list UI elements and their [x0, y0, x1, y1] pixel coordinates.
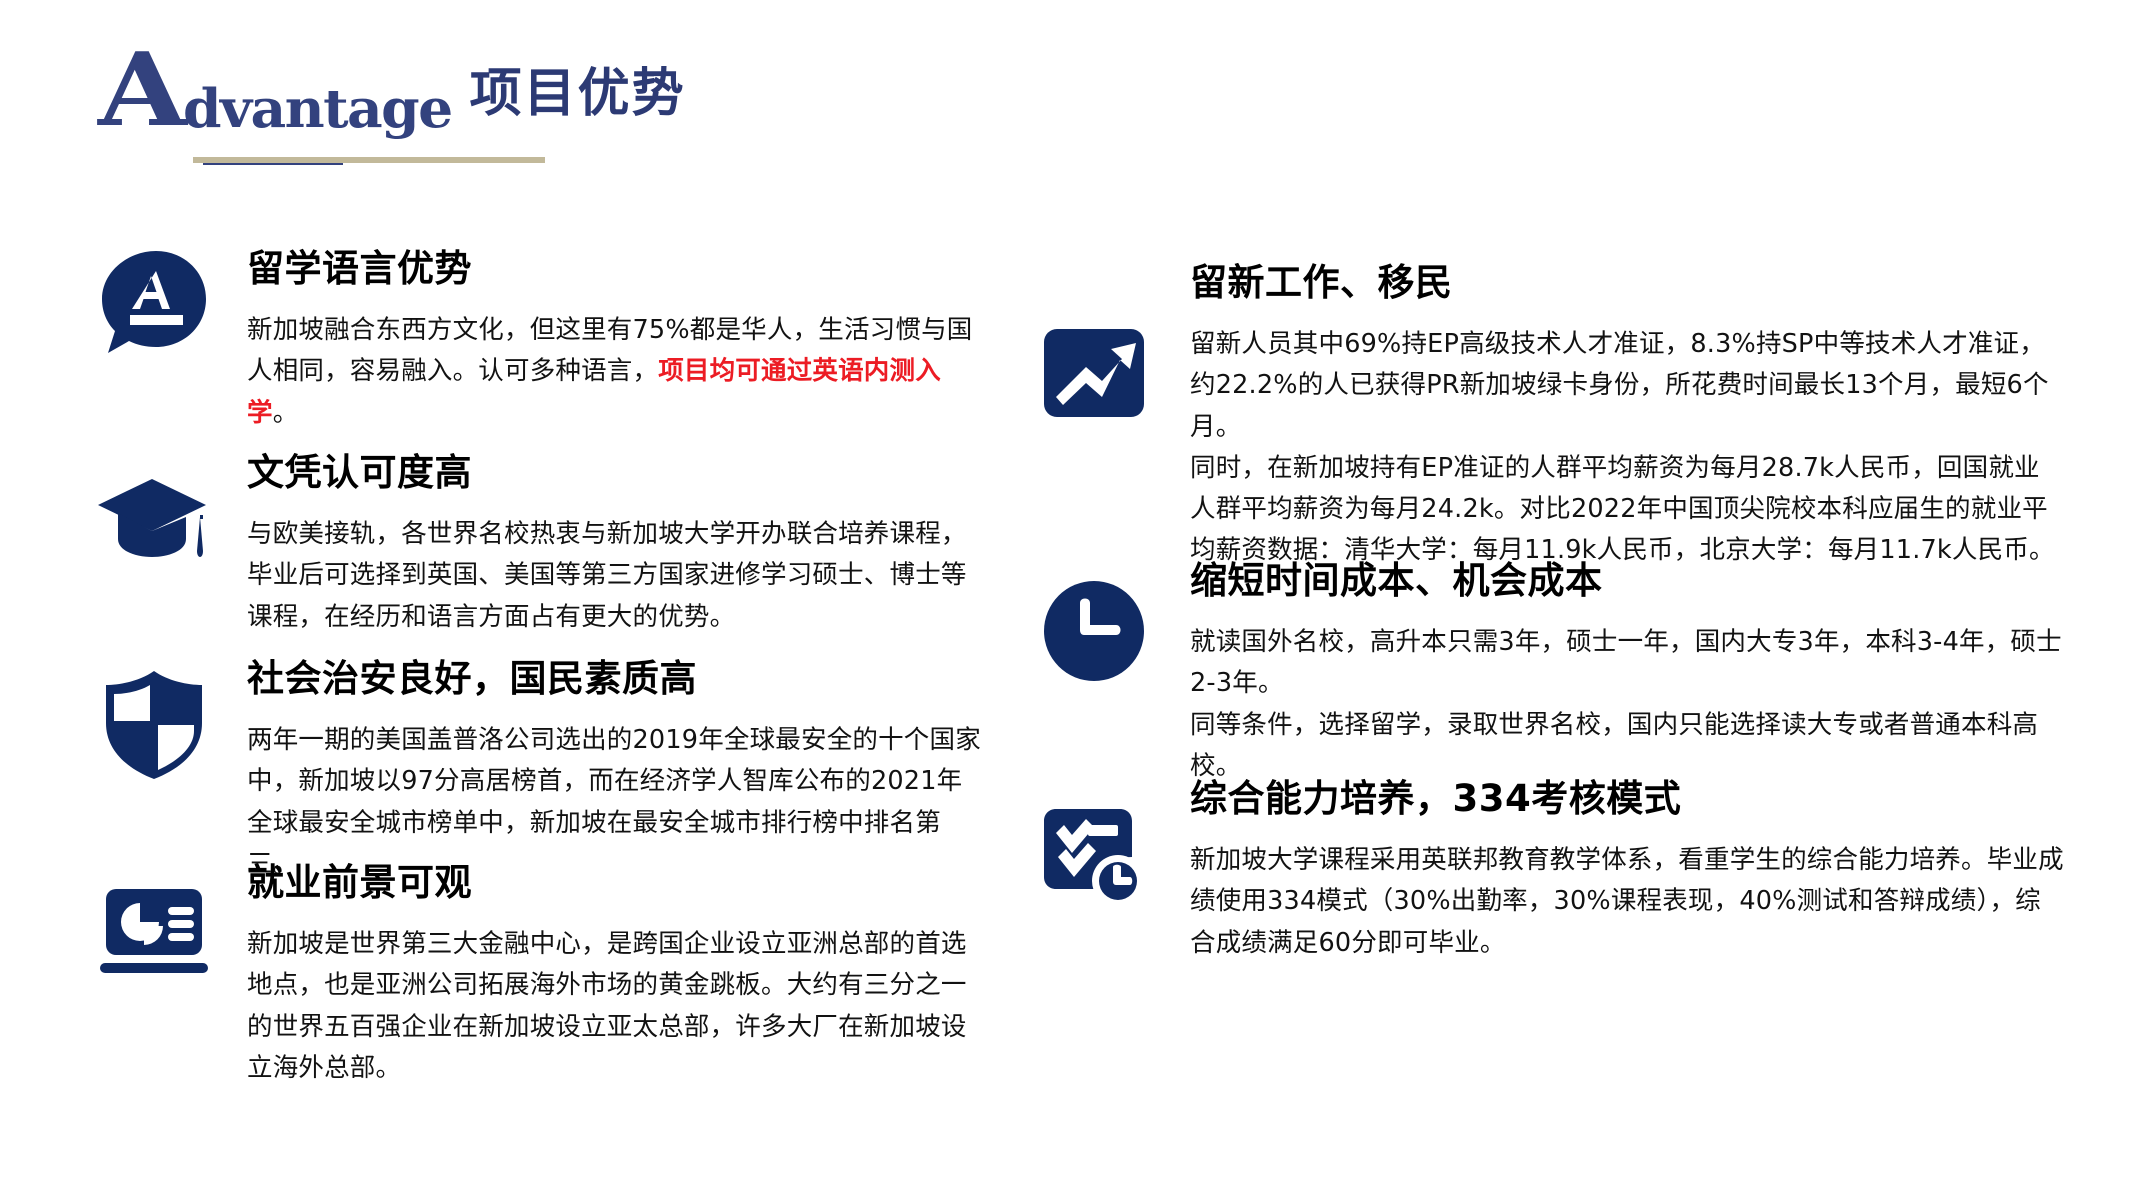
feature-body-language: 留学语言优势 新加坡融合东西方文化，但这里有75%都是华人，生活习惯与国人相同，…	[247, 238, 987, 434]
graduation-cap-icon	[95, 464, 213, 582]
presentation-chart-icon	[95, 874, 213, 992]
feature-body-time: 缩短时间成本、机会成本 就读国外名校，高升本只需3年，硕士一年，国内大专3年，本…	[1190, 550, 2065, 787]
feature-title-time: 缩短时间成本、机会成本	[1190, 550, 2065, 604]
feature-text-ability: 新加坡大学课程采用英联邦教育教学体系，看重学生的综合能力培养。毕业成绩使用334…	[1190, 840, 2065, 964]
feature-text-language-part2: 。	[273, 398, 299, 428]
feature-body-safety: 社会治安良好，国民素质高 两年一期的美国盖普洛公司选出的2019年全球最安全的十…	[247, 648, 987, 885]
speech-bubble-letter-a-icon	[95, 244, 213, 362]
feature-title-safety: 社会治安良好，国民素质高	[247, 648, 987, 702]
feature-body-work: 留新工作、移民 留新人员其中69%持EP高级技术人才准证，8.3%持SP中等技术…	[1190, 252, 2065, 572]
advantage-logo-rest: dvantage	[183, 87, 452, 132]
feature-body-ability: 综合能力培养，334考核模式 新加坡大学课程采用英联邦教育教学体系，看重学生的综…	[1190, 768, 2065, 964]
feature-text-time-p1: 就读国外名校，高升本只需3年，硕士一年，国内大专3年，本科3-4年，硕士2-3年…	[1190, 622, 2065, 705]
feature-body-career: 就业前景可观 新加坡是世界第三大金融中心，是跨国企业设立亚洲总部的首选地点，也是…	[247, 852, 987, 1089]
feature-title-career: 就业前景可观	[247, 852, 987, 906]
trending-up-arrow-icon	[1035, 314, 1153, 432]
feature-text-work-p1: 留新人员其中69%持EP高级技术人才准证，8.3%持SP中等技术人才准证，约22…	[1190, 324, 2065, 448]
feature-title-work: 留新工作、移民	[1190, 252, 2065, 306]
feature-text-degree: 与欧美接轨，各世界名校热衷与新加坡大学开办联合培养课程，毕业后可选择到英国、美国…	[247, 514, 987, 638]
page-title: 项目优势	[470, 51, 686, 126]
clock-icon	[1035, 572, 1153, 690]
feature-title-degree: 文凭认可度高	[247, 442, 987, 496]
shield-icon	[95, 666, 213, 784]
feature-title-ability: 综合能力培养，334考核模式	[1190, 768, 2065, 822]
header-divider-rule	[193, 157, 545, 163]
checklist-clock-icon	[1035, 798, 1153, 916]
feature-text-language: 新加坡融合东西方文化，但这里有75%都是华人，生活习惯与国人相同，容易融入。认可…	[247, 310, 987, 434]
feature-title-language: 留学语言优势	[247, 238, 987, 292]
page-header: A dvantage 项目优势	[98, 54, 686, 164]
feature-body-degree: 文凭认可度高 与欧美接轨，各世界名校热衷与新加坡大学开办联合培养课程，毕业后可选…	[247, 442, 987, 638]
feature-text-career: 新加坡是世界第三大金融中心，是跨国企业设立亚洲总部的首选地点，也是亚洲公司拓展海…	[247, 924, 987, 1089]
advantage-logo: A dvantage	[98, 54, 442, 130]
advantage-logo-capital: A	[98, 51, 182, 130]
